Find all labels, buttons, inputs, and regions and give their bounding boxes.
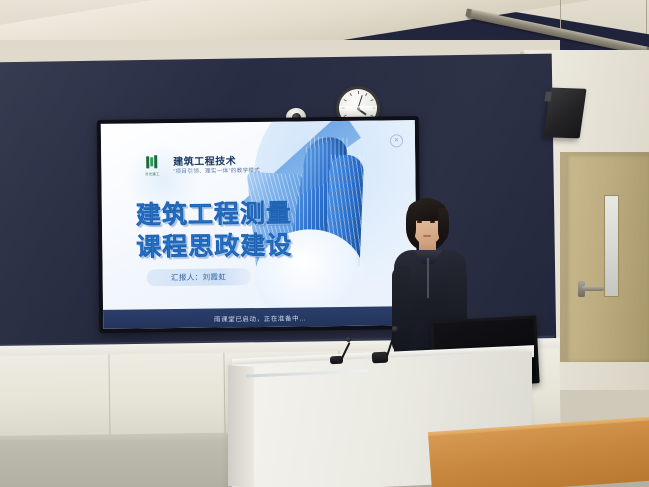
door-glass-panel <box>604 195 619 297</box>
slide-presenter-badge: 汇报人：刘霞虹 <box>147 268 251 286</box>
status-bar: 雨课堂已启动，正在准备中… <box>103 306 417 329</box>
light-wire <box>646 0 647 34</box>
slide-logo-label: 济光建工 <box>139 171 165 176</box>
status-message: 雨课堂已启动，正在准备中… <box>214 312 306 323</box>
projection-display[interactable]: 济光建工 建筑工程技术 “项目引领、理实一体”的教学模式 建筑工程测量 课程思政… <box>97 116 422 333</box>
slide-presenter-label: 汇报人：刘霞虹 <box>171 271 226 283</box>
wall-speaker <box>543 88 586 139</box>
light-wire <box>560 0 561 30</box>
microphone-capsule <box>392 326 398 332</box>
presentation-slide: 济光建工 建筑工程技术 “项目引领、理实一体”的教学模式 建筑工程测量 课程思政… <box>101 120 417 310</box>
microphone-capsule <box>346 337 351 342</box>
logo-mark-icon <box>140 153 164 170</box>
close-icon[interactable]: × <box>390 134 403 147</box>
display-screen: 济光建工 建筑工程技术 “项目引领、理实一体”的教学模式 建筑工程测量 课程思政… <box>101 120 417 329</box>
door-handle[interactable] <box>582 286 604 291</box>
slide-title-line-2: 课程思政建设 <box>136 226 292 264</box>
lectern-side-panel <box>228 365 254 487</box>
clock-glare <box>339 106 377 111</box>
classroom-photo: 济光建工 建筑工程技术 “项目引领、理实一体”的教学模式 建筑工程测量 课程思政… <box>0 0 649 487</box>
slide-logo: 济光建工 <box>139 153 165 179</box>
slide-brand-subtitle: “项目引领、理实一体”的教学模式 <box>173 166 260 175</box>
